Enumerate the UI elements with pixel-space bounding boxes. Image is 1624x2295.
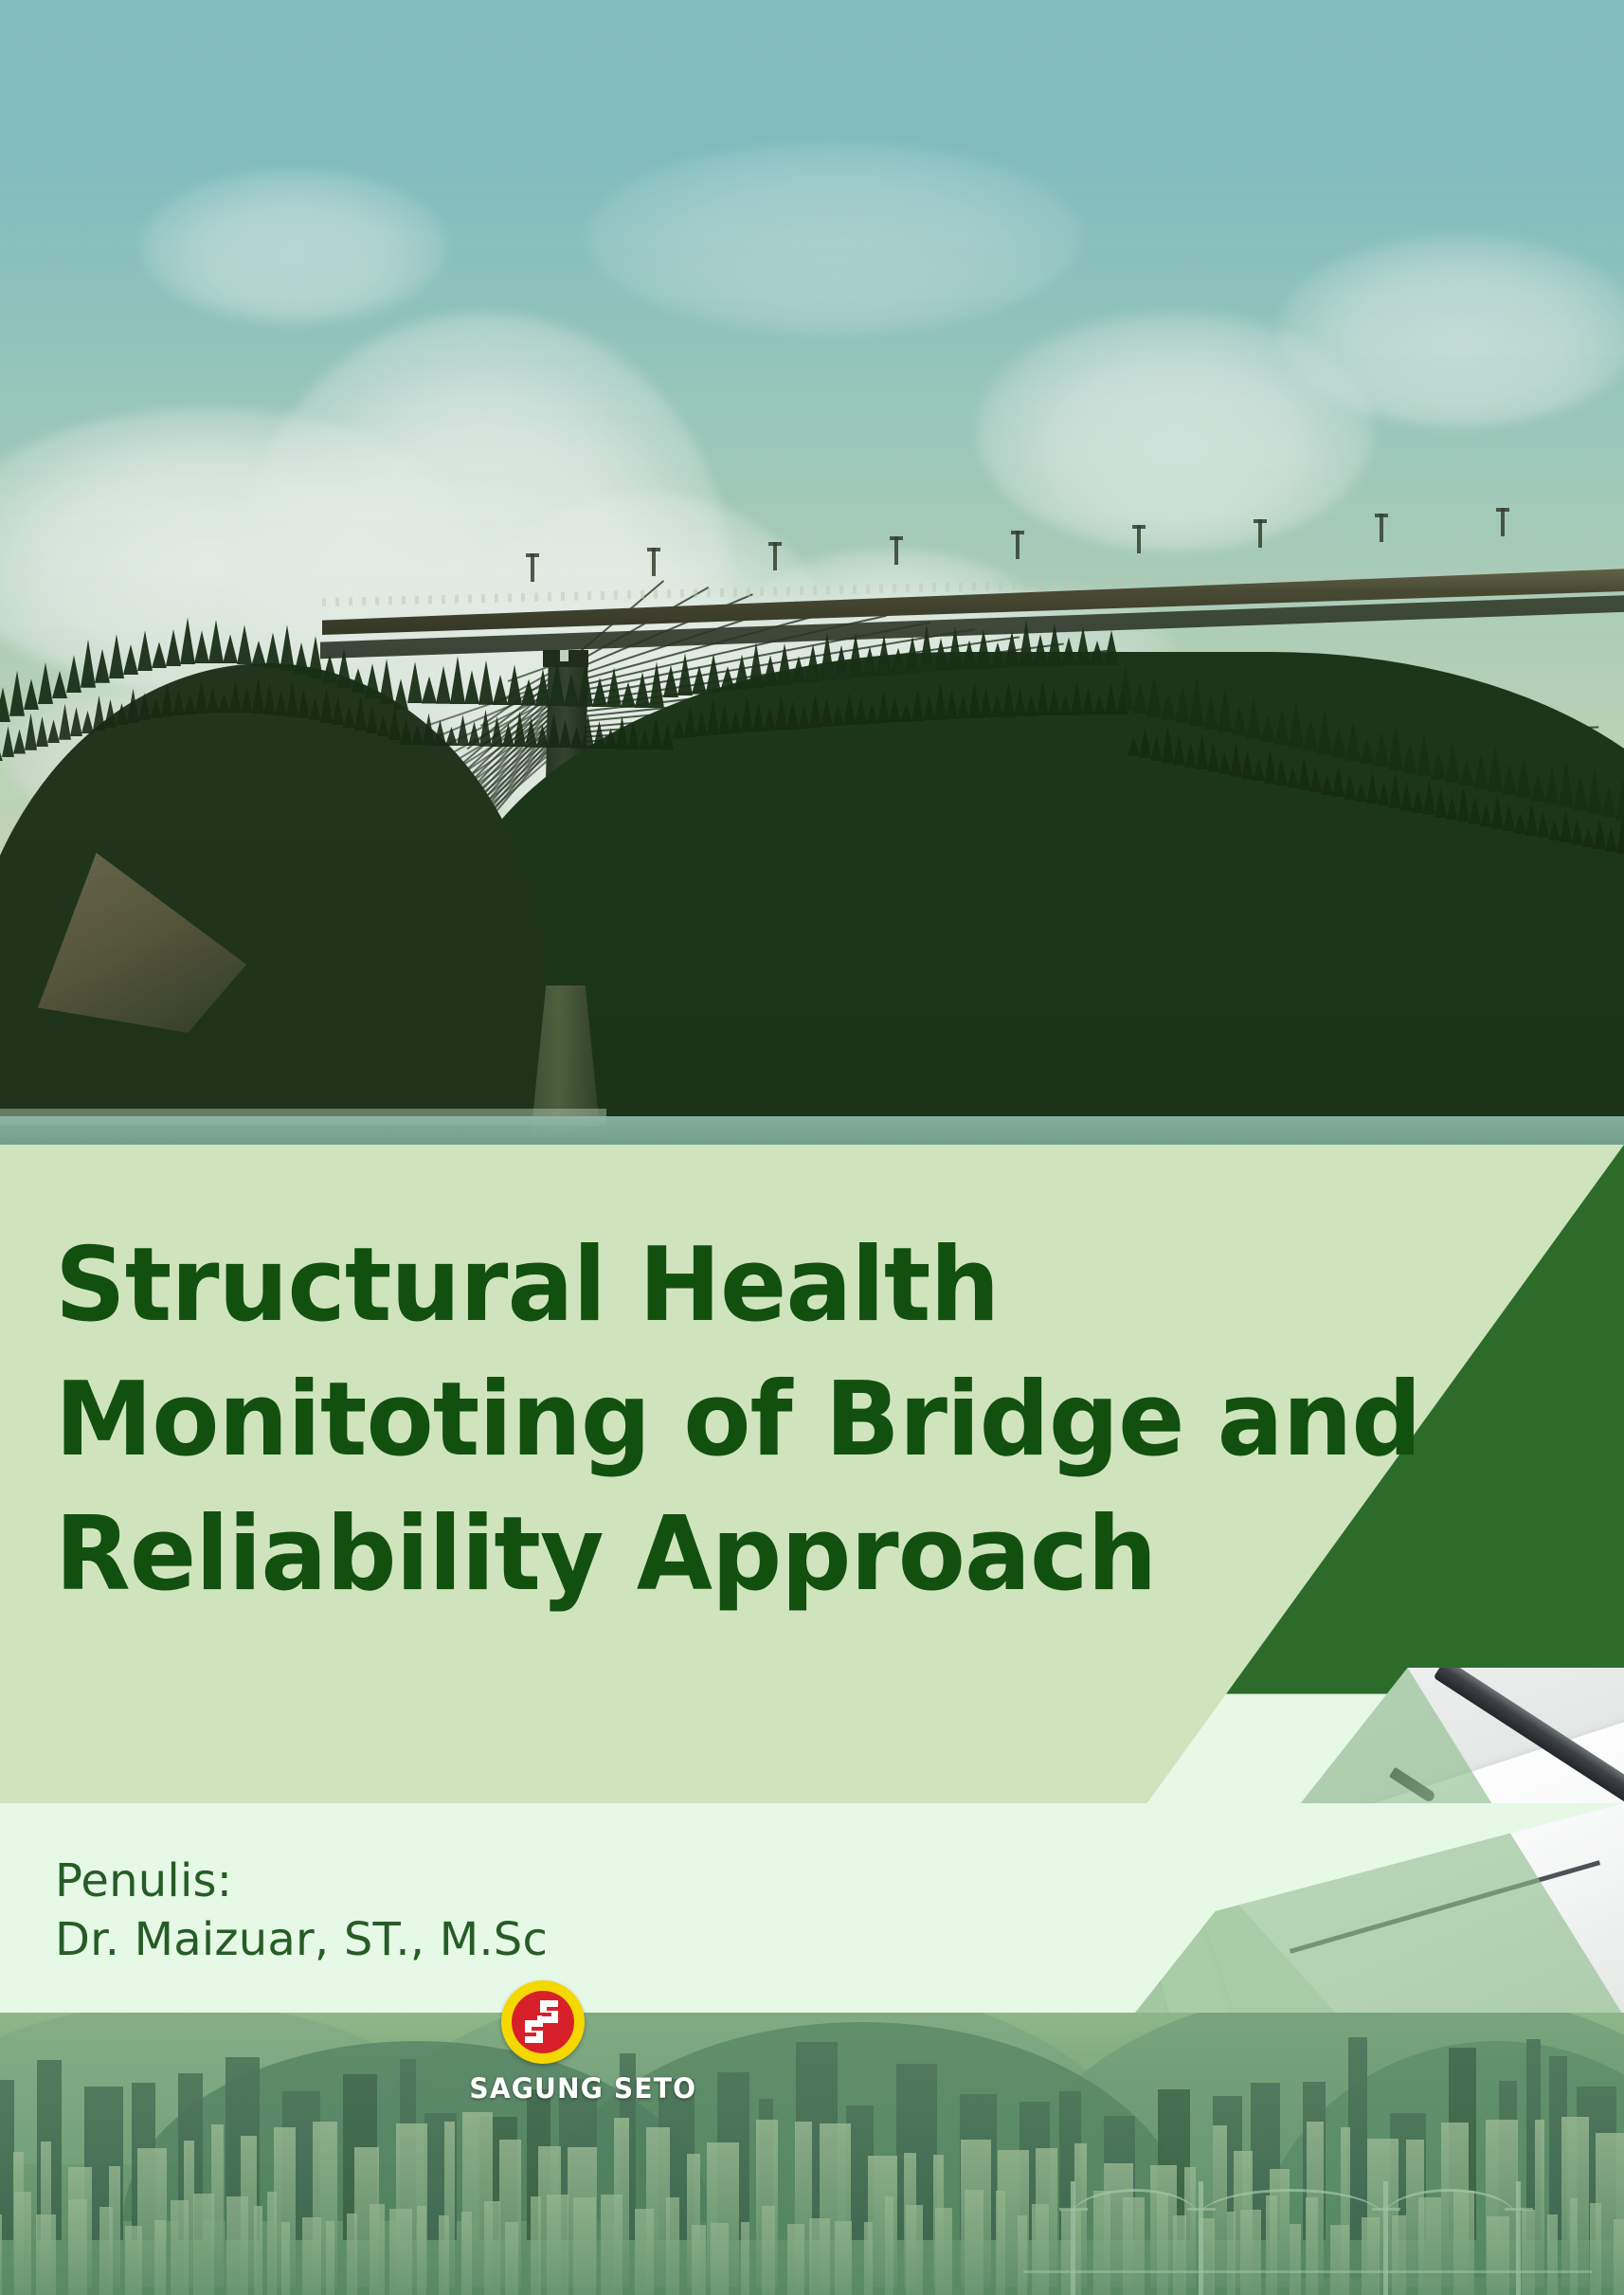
author-label: Penulis: bbox=[55, 1852, 548, 1910]
photo-green-tint bbox=[0, 2013, 1624, 2295]
title-line-1: Structural Health bbox=[55, 1219, 1474, 1353]
title-line-2: Monitoting of Bridge and bbox=[55, 1353, 1474, 1488]
logo-ss-monogram-icon bbox=[512, 1991, 574, 2053]
logo-ring bbox=[501, 1980, 585, 2064]
cityscape-photo bbox=[0, 2013, 1624, 2295]
book-title: Structural Health Monitoting of Bridge a… bbox=[55, 1219, 1533, 1622]
photo-green-tint bbox=[0, 0, 1624, 1175]
title-line-3: Reliability Approach bbox=[55, 1488, 1474, 1622]
cable-stayed-bridge-photo bbox=[0, 0, 1624, 1175]
logo-disc bbox=[512, 1991, 574, 2053]
sagung-seto-logo-icon[interactable]: SAGUNG SETO bbox=[467, 1980, 619, 2105]
author-name: Dr. Maizuar, ST., M.Sc bbox=[55, 1910, 548, 1969]
publisher-name: SAGUNG SETO bbox=[469, 2072, 616, 2105]
author-credit: Penulis: Dr. Maizuar, ST., M.Sc bbox=[55, 1852, 548, 1969]
book-cover: Structural Health Monitoting of Bridge a… bbox=[0, 0, 1624, 2295]
